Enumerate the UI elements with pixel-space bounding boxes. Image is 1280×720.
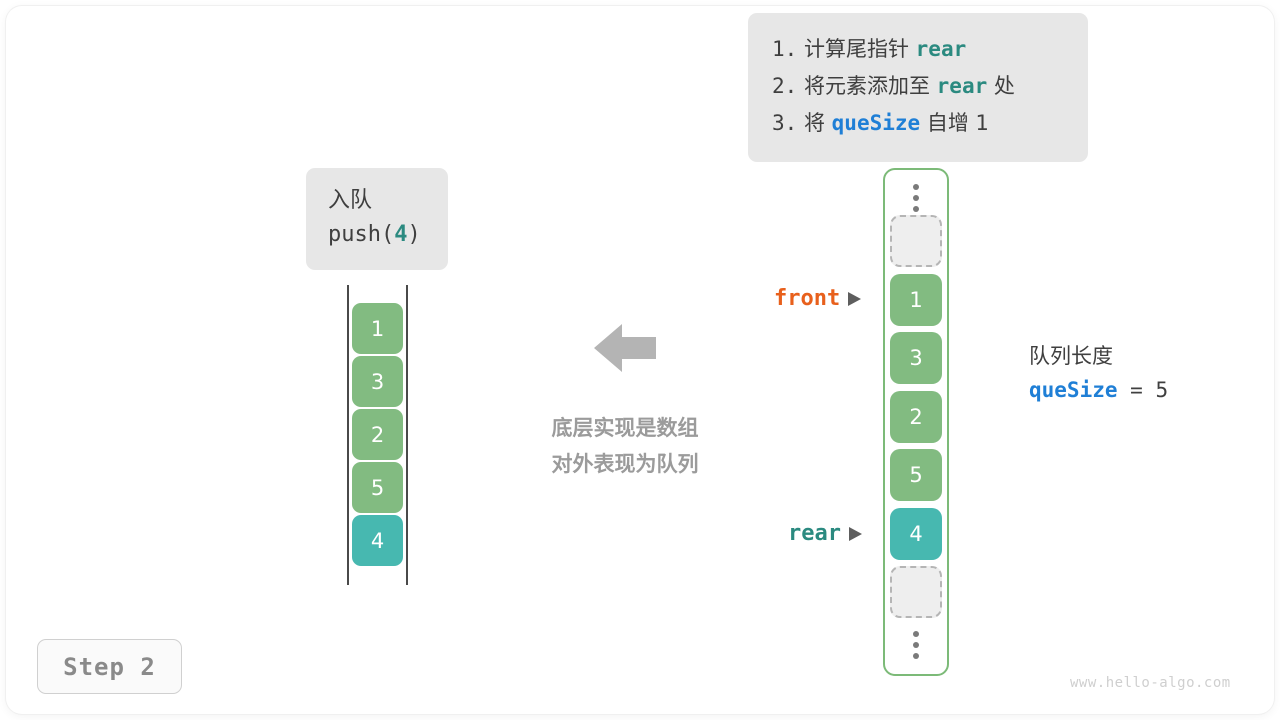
step-line-1: 1. 计算尾指针 rear bbox=[772, 31, 1064, 68]
logical-queue-column: 1 3 2 5 4 bbox=[347, 285, 408, 585]
left-arrow-icon bbox=[592, 318, 658, 382]
step-line-2: 2. 将元素添加至 rear 处 bbox=[772, 68, 1064, 105]
rear-pointer-label: rear bbox=[788, 521, 841, 546]
vertical-ellipsis-top-icon bbox=[890, 178, 942, 218]
step-2-code: rear bbox=[937, 74, 988, 98]
step-1-index: 1. bbox=[772, 37, 797, 61]
steps-panel: 1. 计算尾指针 rear 2. 将元素添加至 rear 处 3. 将 queS… bbox=[748, 13, 1088, 162]
step-badge: Step 2 bbox=[37, 639, 182, 694]
quesize-equals: = bbox=[1118, 378, 1156, 402]
step-2-index: 2. bbox=[772, 74, 797, 98]
step-3-code: queSize bbox=[832, 111, 921, 135]
step-1-text-before: 计算尾指针 bbox=[797, 37, 915, 61]
step-line-3: 3. 将 queSize 自增 1 bbox=[772, 105, 1064, 142]
step-2-text-before: 将元素添加至 bbox=[797, 74, 936, 98]
rear-pointer: rear bbox=[788, 521, 862, 546]
quesize-var: queSize bbox=[1029, 378, 1118, 402]
operation-call-suffix: ) bbox=[407, 222, 420, 247]
operation-call: push(4) bbox=[306, 218, 448, 252]
front-arrowhead-icon bbox=[848, 292, 861, 306]
step-2-text-after: 处 bbox=[987, 74, 1015, 98]
array-slot-new: 4 bbox=[890, 508, 942, 560]
array-slot: 3 bbox=[890, 332, 942, 384]
vertical-ellipsis-bottom-icon bbox=[890, 625, 942, 665]
quesize-value: 5 bbox=[1155, 378, 1168, 402]
center-note: 底层实现是数组 对外表现为队列 bbox=[527, 410, 723, 482]
watermark: www.hello-algo.com bbox=[1070, 675, 1231, 691]
diagram-canvas: 1. 计算尾指针 rear 2. 将元素添加至 rear 处 3. 将 queS… bbox=[0, 0, 1280, 720]
step-3-index: 3. bbox=[772, 111, 797, 135]
array-slot: 5 bbox=[890, 449, 942, 501]
step-1-code: rear bbox=[916, 37, 967, 61]
array-slot: 1 bbox=[890, 274, 942, 326]
queue-cell: 3 bbox=[352, 356, 403, 407]
array-slot-empty bbox=[890, 566, 942, 618]
front-pointer: front bbox=[774, 286, 861, 311]
quesize-title: 队列长度 bbox=[1029, 340, 1168, 372]
step-3-text-before: 将 bbox=[797, 111, 831, 135]
queue-right-rail bbox=[406, 285, 408, 585]
operation-box: 入队 push(4) bbox=[306, 168, 448, 270]
array-slot: 2 bbox=[890, 391, 942, 443]
queue-cell: 2 bbox=[352, 409, 403, 460]
operation-title: 入队 bbox=[306, 184, 448, 218]
rear-arrowhead-icon bbox=[849, 527, 862, 541]
array-column: 1 3 2 5 4 bbox=[883, 168, 949, 676]
quesize-note: 队列长度 queSize = 5 bbox=[1029, 340, 1168, 408]
step-3-text-after: 自增 1 bbox=[920, 111, 989, 135]
queue-left-rail bbox=[347, 285, 349, 585]
queue-cell: 5 bbox=[352, 462, 403, 513]
quesize-expression: queSize = 5 bbox=[1029, 372, 1168, 408]
center-note-line2: 对外表现为队列 bbox=[527, 446, 723, 482]
queue-cell-new: 4 bbox=[352, 515, 403, 566]
queue-cell: 1 bbox=[352, 303, 403, 354]
operation-call-prefix: push( bbox=[328, 222, 394, 247]
center-note-line1: 底层实现是数组 bbox=[527, 410, 723, 446]
front-pointer-label: front bbox=[774, 286, 840, 311]
array-slot-empty bbox=[890, 215, 942, 267]
operation-call-arg: 4 bbox=[394, 222, 407, 247]
